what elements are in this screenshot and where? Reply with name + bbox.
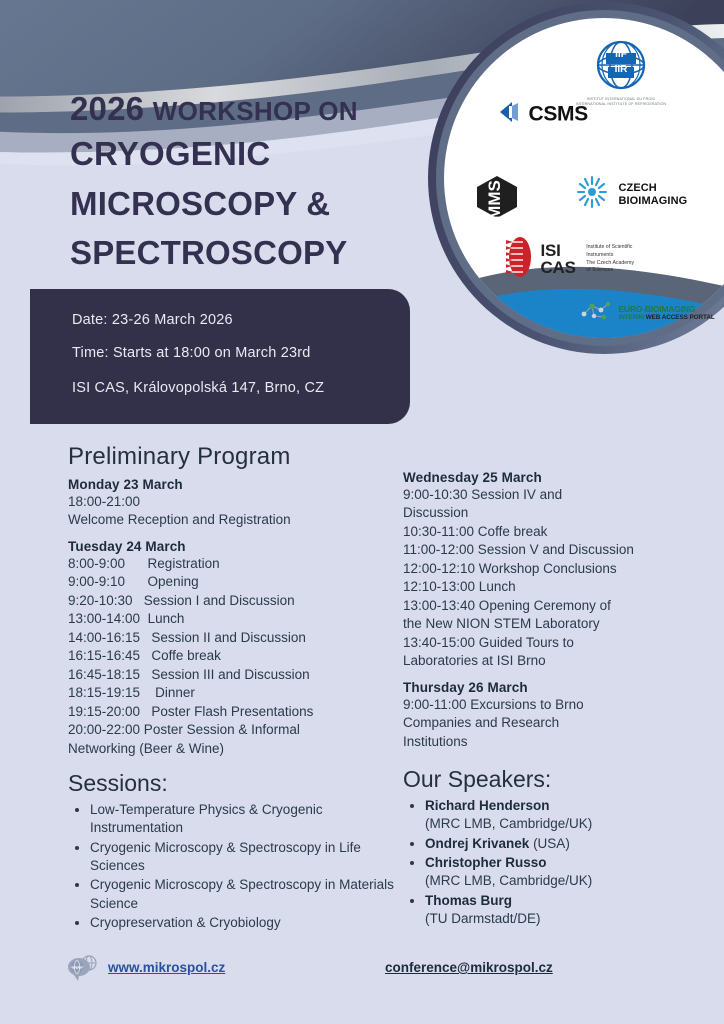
mms-cube-icon: MMS <box>474 174 520 220</box>
program-line: Welcome Reception and Registration <box>68 511 398 529</box>
speaker-name: Ondrej Krivanek <box>425 836 529 851</box>
svg-text:IIR: IIR <box>615 64 629 75</box>
logo-mms: MMS <box>474 174 520 225</box>
program-line: the New NION STEM Laboratory <box>403 615 713 633</box>
speakers-section: Our Speakers: Richard Henderson (MRC LMB… <box>403 766 713 930</box>
program-line: 13:00-13:40 Opening Ceremony of <box>403 597 713 615</box>
program-line: 20:00-22:00 Poster Session & Informal <box>68 721 398 739</box>
euro-bioimaging-wordmark: EURO-BIOIMAGING <box>618 304 714 314</box>
svg-text:IIF: IIF <box>615 49 627 60</box>
sessions-section: Sessions: Low-Temperature Physics & Cryo… <box>68 770 408 934</box>
sponsor-logos: IIF IIR INSTITUT INTERNATIONAL DU FROID … <box>470 18 724 338</box>
program-line: 13:40-15:00 Guided Tours to <box>403 634 713 652</box>
speakers-list: Richard Henderson (MRC LMB, Cambridge/UK… <box>403 797 713 929</box>
isi-cas-flame-icon <box>506 235 532 284</box>
euro-bioimaging-portal: WEB ACCESS PORTAL <box>644 314 715 321</box>
speaker-affiliation: (MRC LMB, Cambridge/UK) <box>425 816 592 831</box>
title-line-microscopy: MICROSCOPY & <box>70 182 430 226</box>
event-venue: ISI CAS, Královopolská 147, Brno, CZ <box>72 380 324 396</box>
program-line: 14:00-16:15 Session II and Discussion <box>68 629 398 647</box>
program-line: 12:00-12:10 Workshop Conclusions <box>403 560 713 578</box>
program-day-tuesday: Tuesday 24 March <box>68 539 398 554</box>
isi-sub-4: of Sciences <box>586 267 634 275</box>
program-day-monday: Monday 23 March <box>68 477 398 492</box>
speaker-item: Ondrej Krivanek (USA) <box>425 835 713 853</box>
speaker-name: Christopher Russo <box>425 855 547 870</box>
program-line: 8:00-9:00 Registration <box>68 555 398 573</box>
website-link[interactable]: www.mikrospol.cz <box>108 960 225 975</box>
sessions-list: Low-Temperature Physics & Cryogenic Inst… <box>68 801 408 933</box>
program-line: Companies and Research <box>403 714 713 732</box>
program-line: Discussion <box>403 504 713 522</box>
program-line: 10:30-11:00 Coffe break <box>403 523 713 541</box>
isi-sub-1: Institute of Scientific <box>586 244 634 252</box>
program-line: 9:00-10:30 Session IV and <box>403 486 713 504</box>
program-line: 16:15-16:45 Coffe break <box>68 647 398 665</box>
euro-bioimaging-subtitle: INTERIM WEB ACCESS PORTAL <box>618 314 714 321</box>
logo-isi-cas: ISI CAS Institute of Scientific Instrume… <box>506 235 634 284</box>
event-info-box: Date: 23-26 March 2026 Time: Starts at 1… <box>30 289 410 424</box>
program-heading: Preliminary Program <box>68 443 398 471</box>
program-day-wednesday: Wednesday 25 March <box>403 470 713 485</box>
program-line: 18:00-21:00 <box>68 493 398 511</box>
program-left-column: Preliminary Program Monday 23 March 18:0… <box>68 443 398 758</box>
poster-root: 2026 WORKSHOP ON CRYOGENIC MICROSCOPY & … <box>0 0 724 1024</box>
sessions-heading: Sessions: <box>68 770 408 797</box>
speaker-affiliation: (USA) <box>533 836 570 851</box>
czech-bioimaging-line2: BIOIMAGING <box>618 195 687 208</box>
iif-iir-globe-icon: IIF IIR <box>566 40 676 92</box>
svg-text:www: www <box>72 965 82 970</box>
euro-bioimaging-interim: INTERIM <box>618 314 644 321</box>
speaker-name: Thomas Burg <box>425 893 512 908</box>
svg-text:MMS: MMS <box>485 180 504 220</box>
program-line: 9:00-9:10 Opening <box>68 573 398 591</box>
footer: www www.mikrospol.cz conference@mikrospo… <box>0 952 724 992</box>
program-line: 12:10-13:00 Lunch <box>403 578 713 596</box>
program-line: 9:00-11:00 Excursions to Brno <box>403 696 713 714</box>
program-line: 13:00-14:00 Lunch <box>68 610 398 628</box>
speaker-item: Thomas Burg (TU Darmstadt/DE) <box>425 892 713 929</box>
session-item: Cryopreservation & Cryobiology <box>90 914 408 932</box>
program-line: 9:20-10:30 Session I and Discussion <box>68 592 398 610</box>
email-link[interactable]: conference@mikrospol.cz <box>385 960 553 975</box>
isi-sub-3: The Czech Academy <box>586 260 634 268</box>
program-line: Laboratories at ISI Brno <box>403 652 713 670</box>
speaker-affiliation: (MRC LMB, Cambridge/UK) <box>425 873 592 888</box>
euro-bioimaging-molecule-icon <box>580 299 614 326</box>
logo-euro-bioimaging: EURO-BIOIMAGING INTERIM WEB ACCESS PORTA… <box>580 299 715 326</box>
csms-mark-icon <box>498 100 524 129</box>
program-right-column: Wednesday 25 March 9:00-10:30 Session IV… <box>403 470 713 751</box>
logo-iif-iir: IIF IIR INSTITUT INTERNATIONAL DU FROID … <box>566 40 676 107</box>
isi-line1: ISI <box>540 243 575 260</box>
speaker-name: Richard Henderson <box>425 798 550 813</box>
logo-czech-bioimaging: CZECH BIOIMAGING <box>574 175 687 214</box>
www-globe-icon: www <box>64 954 104 984</box>
title-year: 2026 <box>70 90 144 127</box>
title-line-cryogenic: CRYOGENIC <box>70 132 430 176</box>
title-workshop-on: WORKSHOP ON <box>153 96 358 126</box>
session-item: Cryogenic Microscopy & Spectroscopy in L… <box>90 839 408 876</box>
program-line: Networking (Beer & Wine) <box>68 740 398 758</box>
czech-bioimaging-burst-icon <box>574 175 610 214</box>
poster-title: 2026 WORKSHOP ON CRYOGENIC MICROSCOPY & … <box>70 92 430 275</box>
speaker-affiliation: (TU Darmstadt/DE) <box>425 911 541 926</box>
speaker-item: Richard Henderson (MRC LMB, Cambridge/UK… <box>425 797 713 834</box>
isi-line2: CAS <box>540 260 575 277</box>
program-line: 19:15-20:00 Poster Flash Presentations <box>68 703 398 721</box>
program-line: 11:00-12:00 Session V and Discussion <box>403 541 713 559</box>
logo-csms: CSMS <box>498 100 588 129</box>
event-date: Date: 23-26 March 2026 <box>72 312 233 328</box>
program-day-thursday: Thursday 26 March <box>403 680 713 695</box>
session-item: Cryogenic Microscopy & Spectroscopy in M… <box>90 876 408 913</box>
program-line: 16:45-18:15 Session III and Discussion <box>68 666 398 684</box>
czech-bioimaging-line1: CZECH <box>618 182 687 195</box>
title-line-spectroscopy: SPECTROSCOPY <box>70 231 430 275</box>
program-line: Institutions <box>403 733 713 751</box>
isi-sub-2: Instruments <box>586 252 634 260</box>
session-item: Low-Temperature Physics & Cryogenic Inst… <box>90 801 408 838</box>
speaker-item: Christopher Russo (MRC LMB, Cambridge/UK… <box>425 854 713 891</box>
program-line: 18:15-19:15 Dinner <box>68 684 398 702</box>
csms-wordmark: CSMS <box>528 103 587 126</box>
event-time: Time: Starts at 18:00 on March 23rd <box>72 345 311 361</box>
speakers-heading: Our Speakers: <box>403 766 713 793</box>
